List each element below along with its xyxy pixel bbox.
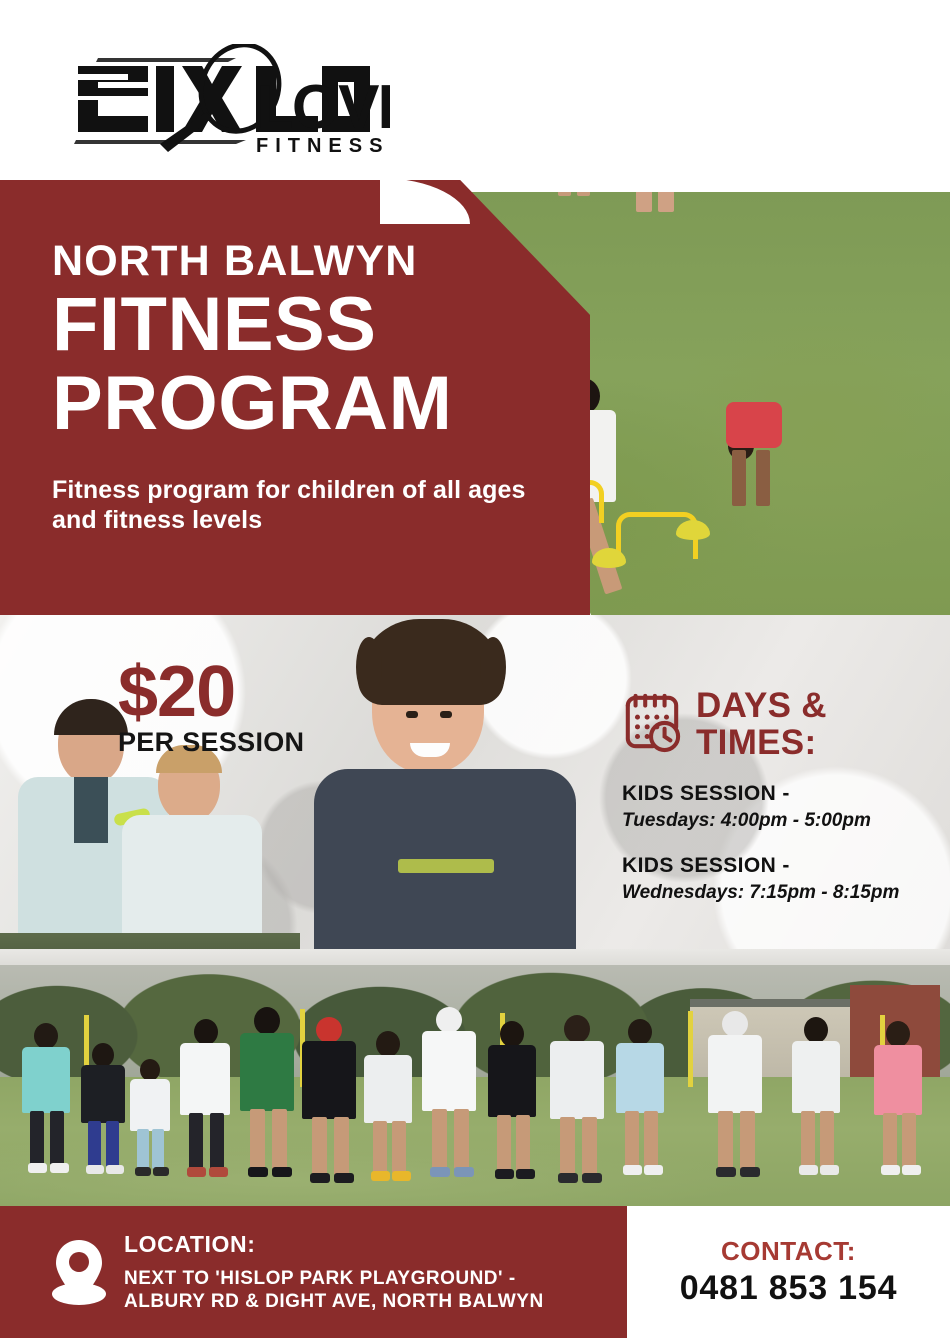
location-title: LOCATION: (124, 1231, 544, 1258)
six-love-fitness-logo: LOVE FITNESS (60, 44, 390, 156)
session-name: KIDS SESSION - (622, 854, 942, 878)
days-times-title-line1: DAYS & (696, 688, 827, 723)
training-cone (676, 520, 710, 540)
days-times-header: DAYS & TIMES: (622, 688, 942, 760)
map-pin-icon (50, 1238, 108, 1306)
hero-text-block: NORTH BALWYN FITNESS PROGRAM Fitness pro… (0, 180, 590, 615)
group-photo-strip (0, 965, 950, 1206)
location-text: LOCATION: NEXT TO 'HISLOP PARK PLAYGROUN… (124, 1231, 544, 1313)
location-address: NEXT TO 'HISLOP PARK PLAYGROUND' - ALBUR… (124, 1267, 544, 1313)
location-block: LOCATION: NEXT TO 'HISLOP PARK PLAYGROUN… (0, 1206, 627, 1338)
price-amount: $20 (118, 660, 304, 725)
flyer-page: LOVE FITNESS NORTH BALWYN FITNESS PROGRA… (0, 0, 950, 1338)
field-marker-pole (688, 1011, 693, 1087)
contact-phone-number[interactable]: 0481 853 154 (680, 1269, 898, 1308)
session-time: Wednesdays: 7:15pm - 8:15pm (622, 882, 942, 904)
logo-love-text: LOVE (256, 73, 390, 142)
days-times-title: DAYS & TIMES: (696, 688, 827, 760)
price-unit: PER SESSION (118, 727, 304, 758)
hero-title-line1: FITNESS (52, 289, 590, 362)
hero-title-line2: PROGRAM (52, 368, 590, 441)
hero-kicker: NORTH BALWYN (52, 240, 590, 283)
days-times-block: DAYS & TIMES: KIDS SESSION - Tuesdays: 4… (622, 688, 942, 904)
location-address-line1: NEXT TO 'HISLOP PARK PLAYGROUND' - (124, 1267, 544, 1290)
hero-subtitle: Fitness program for children of all ages… (52, 475, 532, 536)
contact-title: CONTACT: (721, 1236, 856, 1267)
session-item: KIDS SESSION - Tuesdays: 4:00pm - 5:00pm (622, 782, 942, 832)
contact-block[interactable]: CONTACT: 0481 853 154 (627, 1206, 950, 1338)
training-cone (592, 548, 626, 568)
days-times-title-line2: TIMES: (696, 725, 827, 760)
location-address-line2: ALBURY RD & DIGHT AVE, NORTH BALWYN (124, 1290, 544, 1313)
session-time: Tuesdays: 4:00pm - 5:00pm (622, 810, 942, 832)
photo-teen (314, 619, 576, 967)
session-item: KIDS SESSION - Wednesdays: 7:15pm - 8:15… (622, 854, 942, 904)
logo-fitness-text: FITNESS (256, 135, 389, 156)
teen-photo (268, 615, 613, 967)
calendar-clock-icon (622, 692, 682, 754)
price-block: $20 PER SESSION (118, 660, 304, 758)
session-name: KIDS SESSION - (622, 782, 942, 806)
